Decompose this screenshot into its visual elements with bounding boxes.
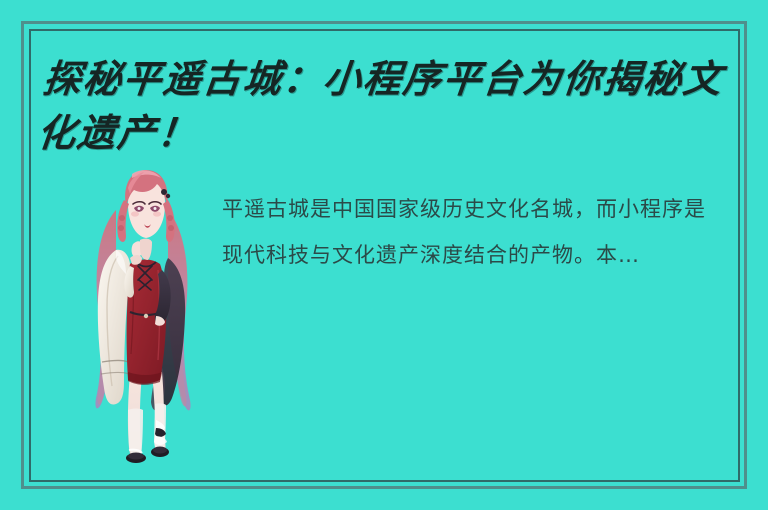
poster-canvas: 探秘平遥古城：小程序平台为你揭秘文化遗产！ 平遥古城是中国国家级历史文化名城，而… [0,0,768,510]
poster-title: 探秘平遥古城：小程序平台为你揭秘文化遗产！ [35,52,746,160]
anime-girl-illustration [72,166,212,476]
poster-body-text: 平遥古城是中国国家级历史文化名城，而小程序是现代科技与文化遗产深度结合的产物。本… [222,186,717,278]
illustration-svg [72,166,212,476]
head [117,170,175,260]
